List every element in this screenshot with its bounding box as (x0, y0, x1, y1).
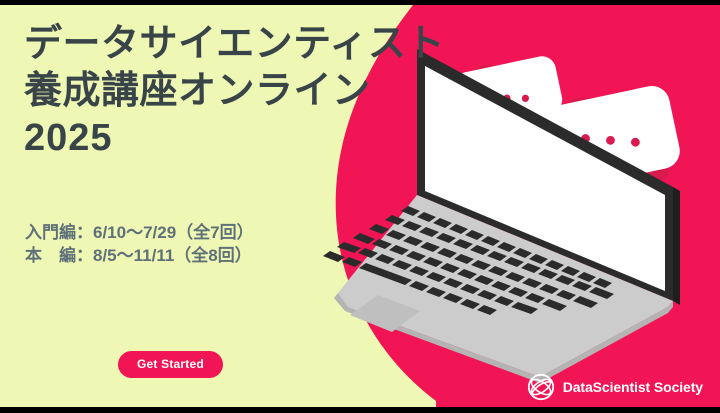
schedule-line-main: 本 編：8/5〜11/11（全8回） (25, 244, 254, 267)
schedule-line-intro: 入門編：6/10〜7/29（全7回） (25, 221, 254, 244)
globe-sphere-icon (527, 373, 555, 401)
headline-line-3: 2025 (24, 115, 445, 162)
promo-banner: データサイエンティスト 養成講座オンライン 2025 入門編：6/10〜7/29… (0, 0, 720, 413)
page-title: データサイエンティスト 養成講座オンライン 2025 (24, 21, 445, 162)
schedule-block: 入門編：6/10〜7/29（全7回） 本 編：8/5〜11/11（全8回） (25, 221, 254, 267)
letterbox-bar-top (0, 0, 720, 5)
brand-logo-text: DataScientist Society (563, 379, 703, 395)
get-started-button[interactable]: Get Started (118, 351, 223, 378)
headline-line-2: 養成講座オンライン (24, 68, 445, 115)
brand-logo[interactable]: DataScientist Society (527, 373, 703, 401)
banner-stage: データサイエンティスト 養成講座オンライン 2025 入門編：6/10〜7/29… (0, 5, 720, 407)
letterbox-bar-bottom (0, 407, 720, 413)
headline-line-1: データサイエンティスト (24, 21, 445, 68)
